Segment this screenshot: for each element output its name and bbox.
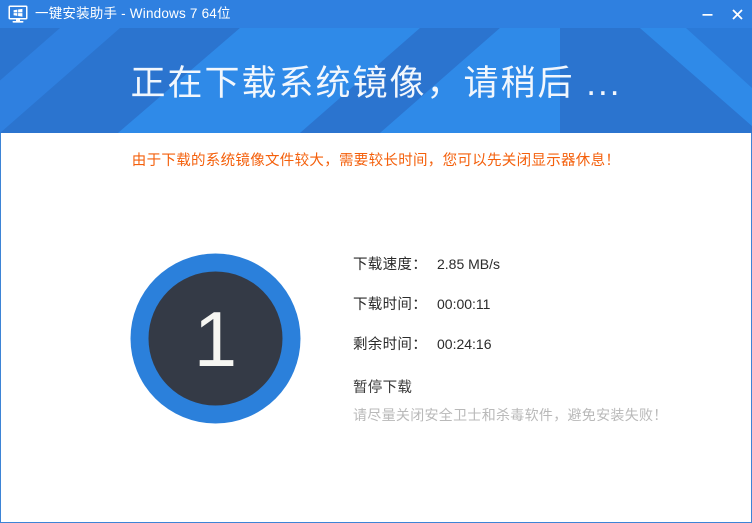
close-button[interactable] [722, 0, 752, 28]
stat-label: 下载速度： [353, 253, 427, 274]
pause-download-link[interactable]: 暂停下载 [353, 376, 412, 397]
stat-row-elapsed-time: 下载时间： 00:00:11 [353, 293, 500, 314]
banner-title: 正在下载系统镜像，请稍后 ... [0, 28, 752, 133]
download-progress-circle: 1 [123, 246, 308, 431]
header-banner: 正在下载系统镜像，请稍后 ... [0, 28, 752, 133]
minimize-icon [701, 8, 714, 21]
antivirus-hint-text: 请尽量关闭安全卫士和杀毒软件，避免安装失败！ [353, 405, 668, 425]
stat-row-download-speed: 下载速度： 2.85 MB/s [353, 253, 500, 274]
window-controls [692, 0, 752, 28]
stat-row-remaining-time: 剩余时间： 00:24:16 [353, 333, 500, 354]
stat-label: 剩余时间： [353, 333, 427, 354]
close-icon [731, 8, 744, 21]
content-area: 由于下载的系统镜像文件较大，需要较长时间，您可以先关闭显示器休息！ 1 下载速度… [0, 133, 752, 523]
stat-value: 00:24:16 [437, 336, 492, 352]
stat-value: 00:00:11 [437, 296, 490, 312]
title-bar[interactable]: 一键安装助手 - Windows 7 64位 [0, 0, 752, 28]
progress-percent-value: 1 [123, 246, 308, 431]
minimize-button[interactable] [692, 0, 722, 28]
download-stats: 下载速度： 2.85 MB/s 下载时间： 00:00:11 剩余时间： 00:… [353, 253, 500, 373]
stat-value: 2.85 MB/s [437, 256, 500, 272]
stat-label: 下载时间： [353, 293, 427, 314]
warning-text: 由于下载的系统镜像文件较大，需要较长时间，您可以先关闭显示器休息！ [1, 149, 751, 170]
monitor-windows-icon [8, 5, 28, 23]
app-window: 一键安装助手 - Windows 7 64位 [0, 0, 752, 523]
window-title: 一键安装助手 - Windows 7 64位 [35, 0, 231, 28]
